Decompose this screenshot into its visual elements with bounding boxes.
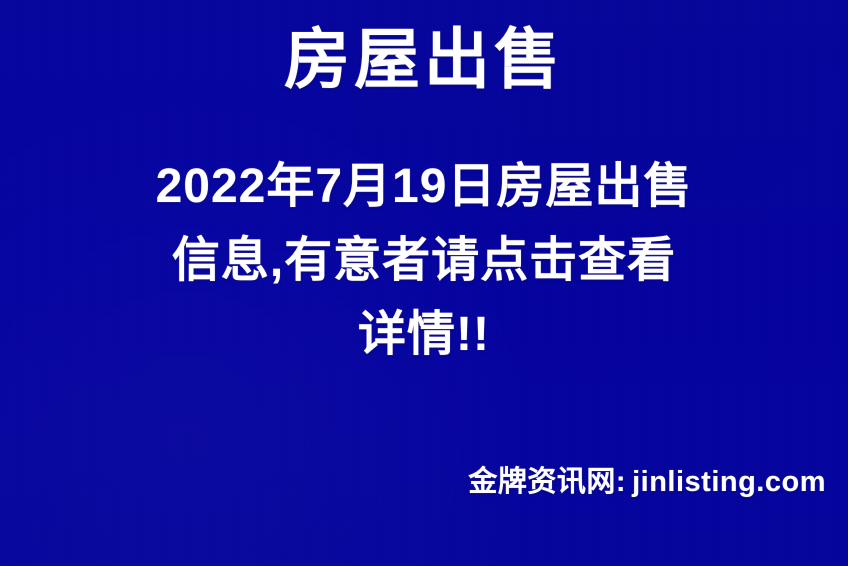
site-attribution: 金牌资讯网:jinlisting.com [468, 458, 826, 500]
announcement-body: 2022年7月19日房屋出售 信息,有意者请点击查看 详情!! [0, 150, 848, 372]
site-url[interactable]: jinlisting.com [632, 466, 826, 498]
page-title: 房屋出售 [0, 26, 848, 92]
announcement-line-3: 详情!! [0, 298, 848, 372]
announcement-line-2: 信息,有意者请点击查看 [0, 224, 848, 298]
site-label: 金牌资讯网: [468, 466, 626, 498]
announcement-line-1: 2022年7月19日房屋出售 [0, 150, 848, 224]
poster-canvas: 房屋出售 2022年7月19日房屋出售 信息,有意者请点击查看 详情!! 金牌资… [0, 0, 848, 566]
